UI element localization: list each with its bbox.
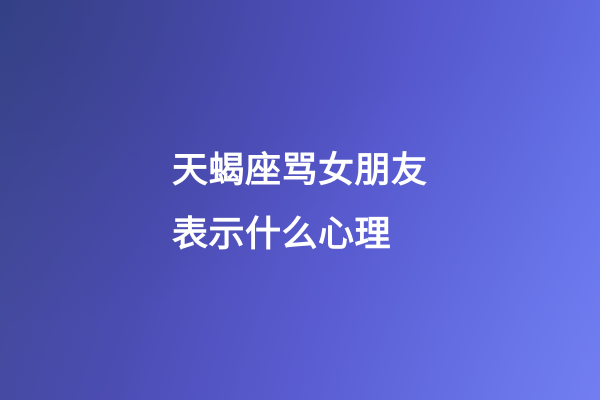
- headline: 天蝎座骂女朋友 表示什么心理: [172, 138, 428, 266]
- title-card: 天蝎座骂女朋友 表示什么心理: [0, 0, 600, 400]
- headline-line-2: 表示什么心理: [172, 202, 428, 266]
- headline-line-1: 天蝎座骂女朋友: [172, 138, 428, 202]
